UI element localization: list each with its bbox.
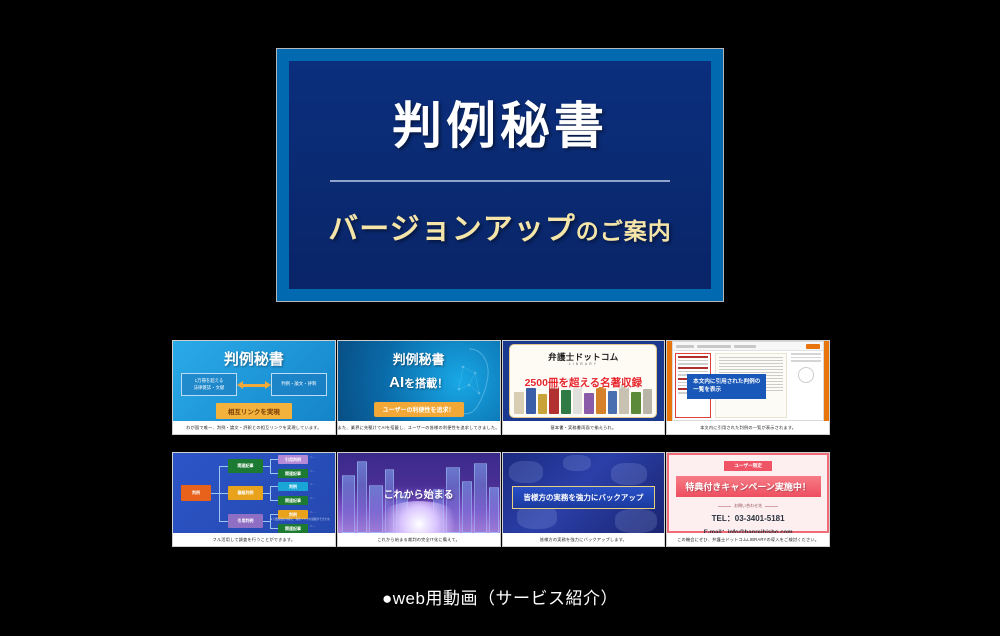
- thumbnail-row-2: 判例 関連記事 審級判例 引用判例 引用判例 関連記事 判例 関連記事 判例 関…: [172, 452, 830, 547]
- thumbnail-grid: 判例秘書 1万冊を超える 法律雑誌・文献 判例・論文・評釈 相互リンクを実現 わ…: [172, 340, 830, 564]
- link-diagram: 1万冊を超える 法律雑誌・文献 判例・論文・評釈: [181, 373, 327, 396]
- thumbnail-caption: 皆様方の実務を強力にバックアップします。: [503, 533, 665, 546]
- contact-label: お問い合わせ先: [718, 503, 778, 509]
- thumbnail-ai-equipped[interactable]: 判例秘書 AIを搭載！ ユーザーの利便性を追求！ また、業界に先駆けてAIを搭載…: [337, 340, 501, 435]
- thumbnail-flowchart[interactable]: 判例 関連記事 審級判例 引用判例 引用判例 関連記事 判例 関連記事 判例 関…: [172, 452, 336, 547]
- flow-continuation-dots-1: ⇨···: [310, 455, 316, 459]
- diagram-box-right: 判例・論文・評釈: [271, 373, 327, 396]
- thumbnail-caption: この機会にぜひ、弁護士ドットコムLIBRARYの導入をご検討ください。: [667, 533, 829, 546]
- bidirectional-arrow-icon: [237, 381, 271, 389]
- screenshot-primary-button: [806, 344, 820, 349]
- contact-telephone: TEL：03-3401-5181: [712, 513, 785, 524]
- thumbnail-caption: 基本書・実務書両面で揃えられ。: [503, 421, 665, 434]
- screenshot-callout: 本文内に引用された判例の 一覧を表示: [687, 374, 766, 399]
- thumbnail-body: これから始まる: [338, 453, 500, 533]
- screenshot-toolbar: [673, 342, 823, 351]
- thumbnail-caption: これから始まる裁判の完全IT化に備えて。: [338, 533, 500, 546]
- thumbnail-body: 判例 関連記事 審級判例 引用判例 引用判例 関連記事 判例 関連記事 判例 関…: [173, 453, 335, 533]
- thumbnail-headline: これから始まる: [338, 486, 500, 501]
- thumbnail-body: 皆様方の実務を強力にバックアップ: [503, 453, 665, 533]
- callout-line2: 一覧を表示: [693, 386, 760, 394]
- flow-leaf-node-6: 関連記事: [278, 524, 308, 533]
- usability-badge: ユーザーの利便性を追求！: [374, 402, 464, 417]
- diagram-box-left-line1: 1万冊を超える: [195, 378, 224, 385]
- thumbnail-headline: AIを搭載！: [338, 374, 500, 391]
- library-card: 弁護士ドットコム LIBRARY: [509, 344, 657, 418]
- flow-root-node: 判例: [181, 485, 211, 501]
- thumbnail-body: 本文内に引用された判例の 一覧を表示: [667, 341, 829, 421]
- thumbnail-title: 判例秘書: [173, 348, 335, 369]
- thumbnail-row-1: 判例秘書 1万冊を超える 法律雑誌・文献 判例・論文・評釈 相互リンクを実現 わ…: [172, 340, 830, 435]
- hero-slide-panel: 判例秘書 バージョンアップのご案内: [289, 61, 711, 289]
- hero-title: 判例秘書: [392, 99, 608, 154]
- flow-leaf-node-4: 関連記事: [278, 496, 308, 505]
- thumbnail-body: 判例秘書 AIを搭載！ ユーザーの利便性を追求！: [338, 341, 500, 421]
- campaign-headline: 特典付きキャンペーン実施中！: [676, 476, 821, 497]
- headline-main: AI: [389, 374, 404, 391]
- thumbnail-background: 本文内に引用された判例の 一覧を表示: [667, 341, 829, 421]
- hero-divider: [330, 180, 670, 182]
- thumbnail-bengoshi-library[interactable]: 弁護士ドットコム LIBRARY: [502, 340, 666, 435]
- flow-continuation-dots-4: ⇨···: [310, 496, 316, 500]
- flow-leaf-node-2: 関連記事: [278, 469, 308, 478]
- flow-continuation-dots-6: ⇨···: [310, 524, 316, 528]
- thumbnail-caption: また、業界に先駆けてAIを搭載し、ユーザーの皆様の利便性を追求してきました。: [338, 421, 500, 434]
- thumbnail-campaign-contact[interactable]: ユーザー限定 特典付きキャンペーン実施中！ お問い合わせ先 TEL：03-340…: [666, 452, 830, 547]
- thumbnail-body: ユーザー限定 特典付きキャンペーン実施中！ お問い合わせ先 TEL：03-340…: [667, 453, 829, 533]
- thumbnail-title: 判例秘書: [338, 349, 500, 368]
- contact-email: E-mail：info@hanreihisho.com: [704, 527, 793, 533]
- hero-subtitle-main: バージョンアップ: [328, 213, 575, 246]
- hero-subtitle-tail: のご案内: [576, 218, 672, 244]
- diagram-box-left: 1万冊を超える 法律雑誌・文献: [181, 373, 237, 396]
- thumbnail-body: 弁護士ドットコム LIBRARY: [503, 341, 665, 421]
- thumbnail-background: ユーザー限定 特典付きキャンペーン実施中！ お問い合わせ先 TEL：03-340…: [667, 453, 829, 533]
- diagram-box-right-label: 判例・論文・評釈: [281, 381, 316, 388]
- thumbnail-caption: 本文内に引用された判例の一覧が表示されます。: [667, 421, 829, 434]
- thumbnail-background: 弁護士ドットコム LIBRARY: [503, 341, 665, 421]
- app-screenshot: 本文内に引用された判例の 一覧を表示: [672, 341, 824, 421]
- thumbnail-mutual-link[interactable]: 判例秘書 1万冊を超える 法律雑誌・文献 判例・論文・評釈 相互リンクを実現 わ…: [172, 340, 336, 435]
- thumbnail-cited-precedents[interactable]: 本文内に引用された判例の 一覧を表示 本文内に引用された判例の一覧が表示されます…: [666, 340, 830, 435]
- hero-subtitle: バージョンアップのご案内: [328, 204, 671, 248]
- thumbnail-backup-support[interactable]: 皆様方の実務を強力にバックアップ 皆様方の実務を強力にバックアップします。: [502, 452, 666, 547]
- headline-tail: を搭載！: [404, 378, 448, 390]
- flow-branch-node-2: 審級判例: [228, 486, 263, 500]
- flow-branch-node-1: 関連記事: [228, 459, 263, 473]
- flow-continuation-dots-5: ⇨···: [310, 510, 316, 514]
- hero-slide[interactable]: 判例秘書 バージョンアップのご案内: [276, 48, 724, 302]
- mutual-link-badge: 相互リンクを実現: [216, 403, 292, 419]
- flow-continuation-dots-2: ⇨···: [310, 469, 316, 473]
- thumbnail-coming-future[interactable]: これから始まる これから始まる裁判の完全IT化に備えて。: [337, 452, 501, 547]
- flow-leaf-node-3: 判例: [278, 482, 308, 491]
- thumbnail-body: 判例秘書 1万冊を超える 法律雑誌・文献 判例・論文・評釈 相互リンクを実現: [173, 341, 335, 421]
- flow-branch-node-3: 引用判例: [228, 514, 263, 528]
- campaign-tag: ユーザー限定: [724, 461, 771, 471]
- screenshot-rightpanel: [791, 353, 821, 418]
- thumbnail-caption: フル活用して調査を行うことができます。: [173, 533, 335, 546]
- thumbnail-caption: わが国で唯一、判例・論文・評釈との相互リンクを実現しています。: [173, 421, 335, 434]
- flow-continuation-dots-3: ⇨···: [310, 482, 316, 486]
- callout-line1: 本文内に引用された判例の: [693, 378, 760, 386]
- library-brand-sub: LIBRARY: [510, 362, 656, 366]
- page-caption: ●web用動画（サービス紹介）: [0, 584, 1000, 609]
- library-headline: 2500冊を超える名著収録: [510, 375, 656, 390]
- flowchart-note: ※下層階層も同様に、順次リンクの展開ができます。: [270, 517, 332, 521]
- diagram-box-left-line2: 法律雑誌・文献: [194, 385, 225, 392]
- screenshot-avatar: [798, 367, 814, 383]
- flow-leaf-node-1: 引用判例: [278, 455, 308, 464]
- backup-banner: 皆様方の実務を強力にバックアップ: [512, 486, 656, 509]
